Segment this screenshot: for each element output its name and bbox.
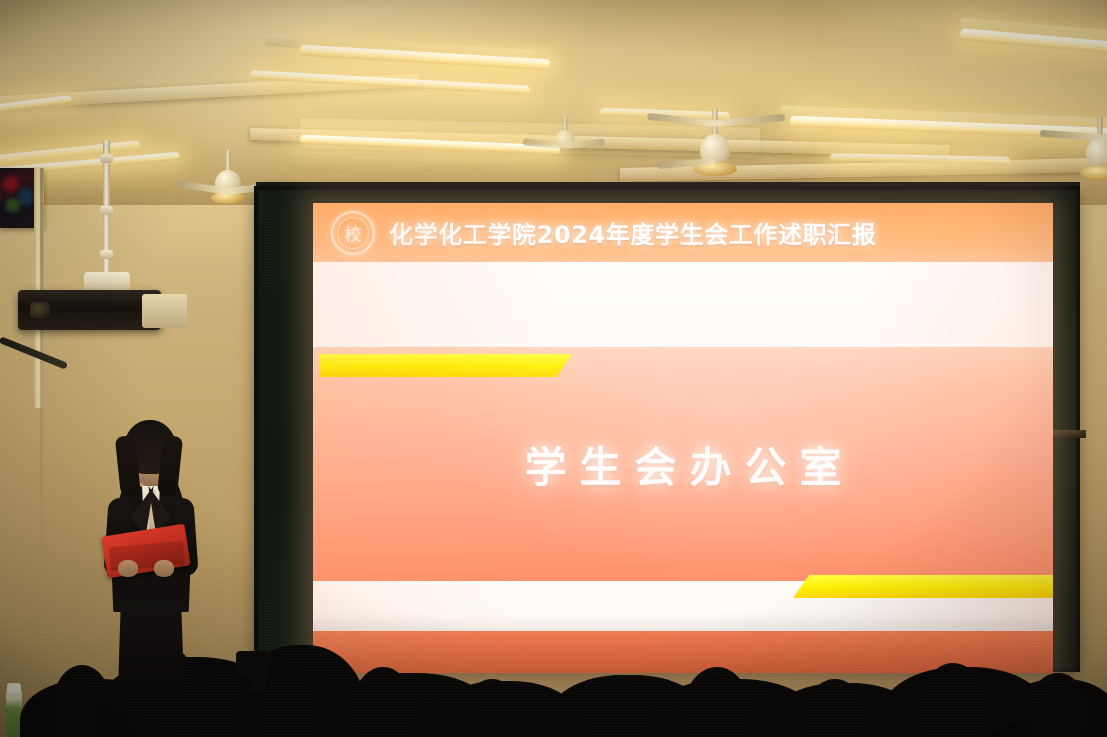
- presenter-lower-body: [118, 606, 184, 690]
- seal-glyph: 校: [333, 220, 373, 245]
- wall-edge: [40, 168, 43, 568]
- projector-lens-icon: [30, 302, 50, 318]
- presenter-hand-left: [118, 560, 138, 577]
- ceiling-fan-icon: [520, 116, 610, 176]
- wall-speaker: [142, 294, 187, 328]
- projector-mount-pole: [103, 140, 110, 275]
- slide-bottom-band: [313, 631, 1053, 673]
- presenter: [96, 420, 206, 690]
- slide-title: 化学化工学院2024年度学生会工作述职汇报: [389, 215, 876, 250]
- projection-screen: 校 化学化工学院2024年度学生会工作述职汇报 学生会办公室: [313, 203, 1053, 673]
- slide-title-row: 校 化学化工学院2024年度学生会工作述职汇报: [313, 203, 1053, 262]
- university-seal-icon: 校: [331, 211, 375, 255]
- slide-white-band-top: [313, 262, 1053, 347]
- presenter-hand-right: [154, 560, 174, 577]
- slide-main-area: 学生会办公室: [313, 347, 1053, 581]
- projector-icon: [18, 290, 161, 330]
- lecture-hall-photo: 校 化学化工学院2024年度学生会工作述职汇报 学生会办公室: [0, 0, 1107, 737]
- slide-heading: 学生会办公室: [511, 434, 854, 495]
